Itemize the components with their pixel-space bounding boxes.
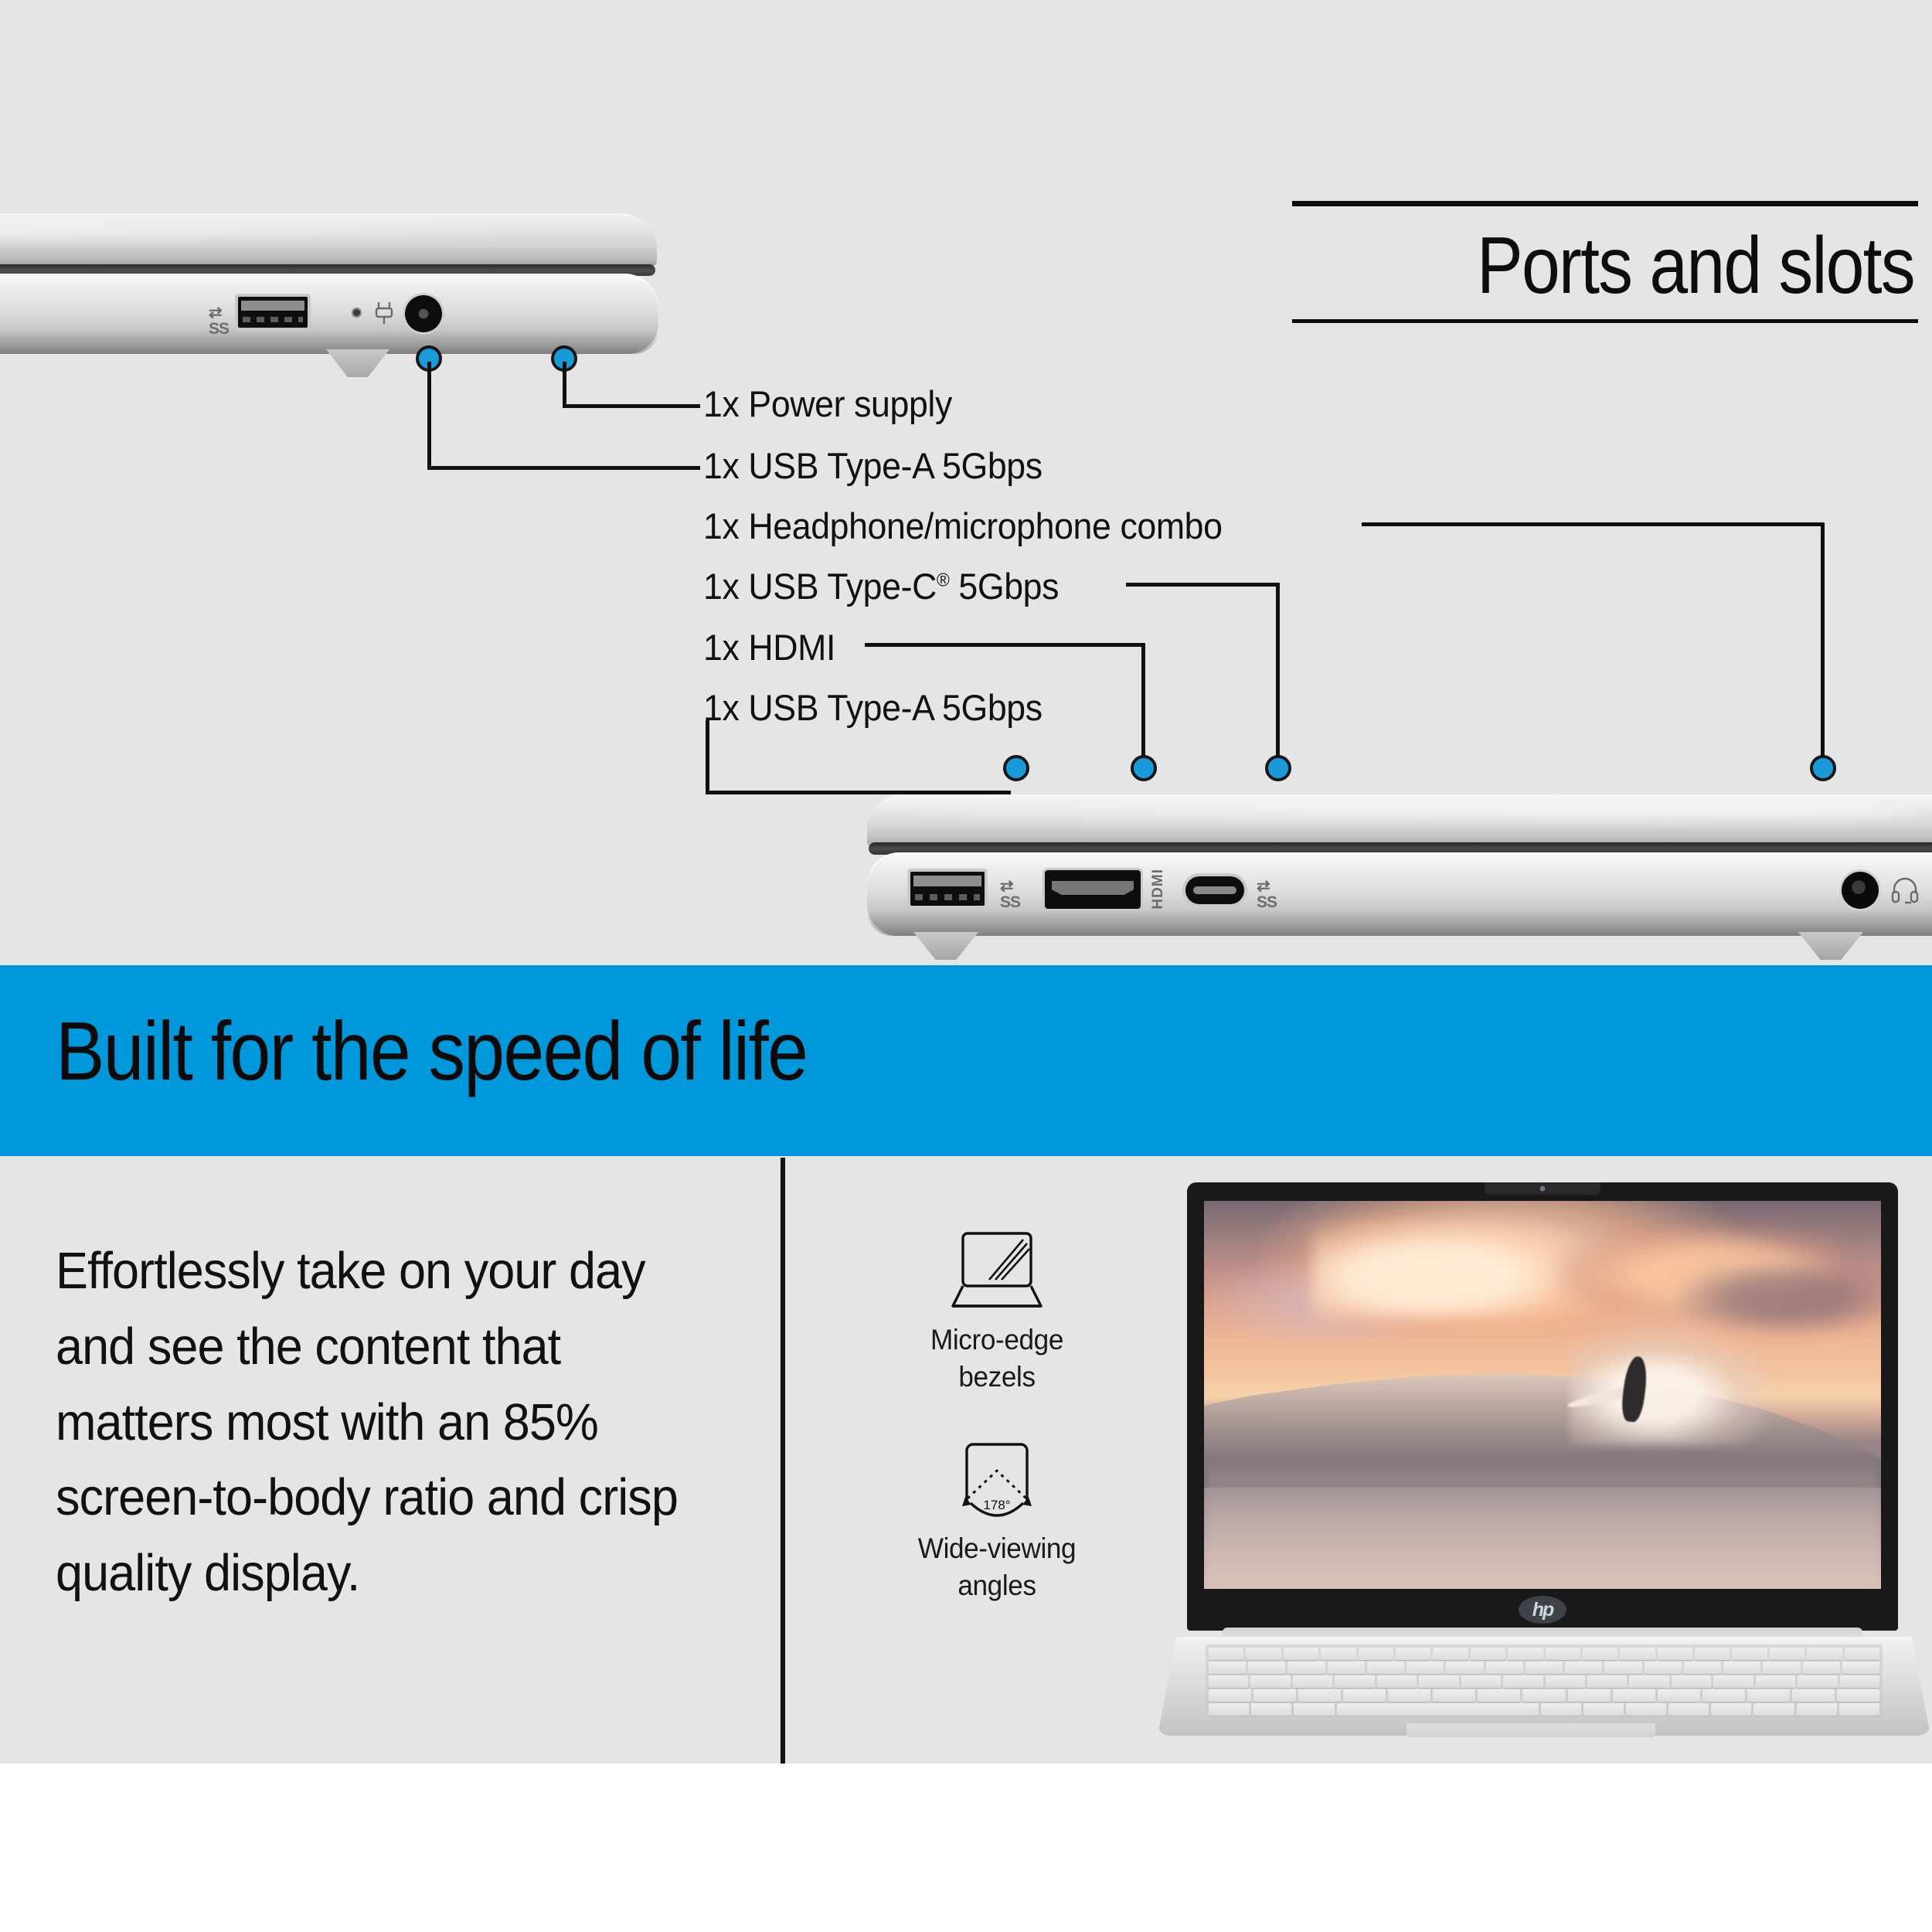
laptop-base [0,274,658,354]
column-divider [781,1158,785,1764]
leader-power-supply-v [563,362,566,406]
registered-mark: ® [937,570,949,590]
leader-hdmi-h [865,643,1141,647]
leader-usb-c-v [1276,583,1280,758]
page-title: Ports and slots [1379,206,1918,319]
headphone-microphone-combo-jack [1842,872,1879,909]
laptop-lid [0,213,657,266]
callout-label-usb-a-top: 1x USB Type-A 5Gbps [703,444,1043,487]
callout-label-power-supply: 1x Power supply [703,383,952,425]
usb-port-pins [915,894,980,900]
viewing-angle-icon: 178° [866,1430,1128,1530]
ports-and-slots-section: Ports and slots ⇄ SS [0,0,1932,965]
title-rule-top [1292,201,1918,206]
power-plug-icon [372,300,396,326]
laptop-keyboard [1206,1645,1883,1719]
product-feature-page: Ports and slots ⇄ SS [0,0,1932,1932]
laptop-lid [867,794,1932,845]
webcam-notch [1485,1182,1600,1195]
banner-title: Built for the speed of life [56,1002,807,1099]
laptop-rubber-foot [1798,932,1863,960]
callout-label-usb-c-text: 1x USB Type-C [703,566,937,607]
feature-micro-edge-bezels: Micro-edge bezels [866,1221,1128,1396]
bottom-bezel: hp [1187,1589,1898,1631]
callout-label-usb-a-bottom: 1x USB Type-A 5Gbps [703,686,1043,729]
foreground-water [1204,1464,1881,1589]
laptop-base [867,852,1932,936]
callout-label-usb-c: 1x USB Type-C® 5Gbps [703,565,1059,607]
viewing-angle-value: 178° [983,1498,1010,1512]
laptop-rubber-foot [913,932,978,960]
feature-description: Effortlessly take on your day and see th… [56,1233,695,1611]
title-rule-bottom [1292,319,1918,323]
laptop-screen-wallpaper [1204,1201,1881,1589]
wave-spray [1570,1329,1773,1446]
feature-wide-viewing-angles: 178° Wide-viewing angles [866,1430,1128,1604]
usb-superspeed-icon: ⇄ SS [1257,878,1277,910]
leader-usb-c-h [1126,583,1278,587]
hp-logo-icon: hp [1519,1596,1566,1624]
feature-caption: Micro-edge bezels [872,1321,1122,1396]
hdmi-port [1045,870,1141,909]
leader-headphone-v [1821,522,1825,758]
product-photo-laptop: hp [1158,1182,1930,1739]
caption-line-2: angles [957,1570,1036,1601]
laptop-bezel-icon [866,1221,1128,1321]
keyboard-row [1209,1648,1879,1660]
callout-dot-hdmi[interactable] [1131,755,1157,781]
laptop-display-lid [1187,1182,1898,1631]
leader-usb-a-bottom-v [706,720,709,794]
usb-type-c-port [1185,876,1244,904]
dc-power-jack [405,295,442,332]
caption-line-1: Wide-viewing [918,1532,1076,1564]
laptop-side-view-front: ⇄ SS HDMI ⇄ SS [867,794,1932,949]
speed-banner: Built for the speed of life [0,965,1932,1156]
cloud [1678,1263,1881,1332]
callout-dot-headphone-mic-combo[interactable] [1810,755,1836,781]
usb-type-a-port [235,294,311,331]
usb-superspeed-icon: ⇄ SS [1000,878,1020,910]
usb-port-tongue [241,301,304,311]
hdmi-label: HDMI [1150,869,1167,910]
leader-usb-a-top-h [427,466,700,470]
callout-label-headphone-mic-combo: 1x Headphone/microphone combo [703,505,1223,547]
feature-icon-column: Micro-edge bezels 178° Wide-viewing angl… [866,1221,1128,1638]
caption-line-2: bezels [958,1361,1035,1393]
feature-caption: Wide-viewing angles [872,1530,1122,1604]
usb-type-a-port [907,869,988,909]
laptop-side-view-rear: ⇄ SS [0,213,657,360]
leader-hdmi-v [1141,643,1145,758]
power-led-indicator [352,308,362,318]
callout-label-usb-c-speed: 5Gbps [949,566,1059,607]
keyboard-row [1209,1689,1879,1702]
usb-superspeed-icon: ⇄ SS [209,304,229,337]
callout-dot-usb-c[interactable] [1265,755,1291,781]
keyboard-row [1209,1662,1879,1674]
headset-icon [1890,875,1920,906]
usb-port-pins [243,317,303,322]
callout-label-hdmi: 1x HDMI [703,626,835,668]
usb-port-tongue [913,876,981,886]
caption-line-1: Micro-edge [930,1324,1063,1355]
leader-usb-a-top-v [427,362,431,468]
laptop-touchpad [1406,1723,1655,1737]
laptop-rubber-foot [326,349,389,377]
callout-dot-usb-a-bottom[interactable] [1003,755,1029,781]
leader-headphone-h [1362,522,1823,526]
leader-power-supply-h [563,404,700,408]
ports-title-block: Ports and slots [1292,201,1918,323]
keyboard-row [1209,1675,1879,1688]
keyboard-row [1209,1703,1879,1716]
